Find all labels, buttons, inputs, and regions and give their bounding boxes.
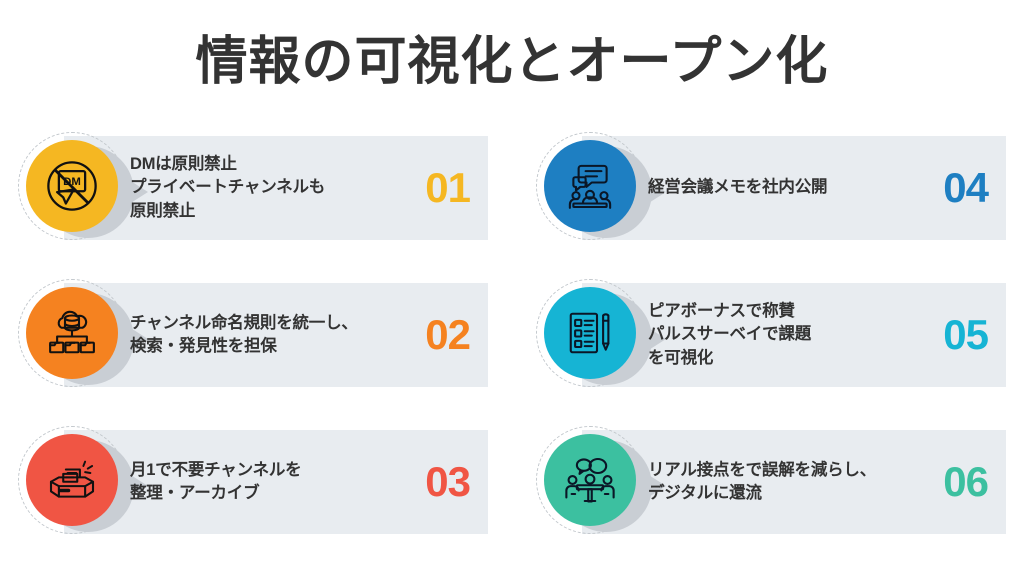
- item-text-line: パルスサーベイで課題: [648, 323, 898, 346]
- page-title: 情報の可視化とオープン化: [0, 34, 1024, 91]
- cloud-folder-hierarchy-icon: [44, 305, 100, 361]
- item-text-line: 検索・発見性を担保: [130, 335, 380, 358]
- item-text-line: 整理・アーカイブ: [130, 482, 380, 505]
- item-text: 経営会議メモを社内公開: [648, 136, 898, 240]
- item-text-line: プライベートチャンネルも: [130, 176, 380, 199]
- icon-circle: [544, 287, 636, 379]
- item-number: 01: [425, 136, 470, 240]
- icon-circle: [26, 287, 118, 379]
- items-column-right: 経営会議メモを社内公開 04: [536, 128, 1006, 548]
- item-number: 02: [425, 283, 470, 387]
- item-text-line: デジタルに還流: [648, 482, 898, 505]
- archive-box-icon: [44, 452, 100, 508]
- list-item[interactable]: 月1で不要チャンネルを 整理・アーカイブ 03: [18, 422, 488, 532]
- icon-circle: [544, 434, 636, 526]
- roundtable-people-icon: [562, 452, 618, 508]
- item-number: 05: [943, 283, 988, 387]
- item-text-line: を可視化: [648, 347, 898, 370]
- slide-root: 情報の可視化とオープン化 DM: [0, 0, 1024, 576]
- items-column-left: DM DMは原則禁止 プライベートチャンネルも 原則禁止 01: [18, 128, 488, 548]
- list-item[interactable]: DM DMは原則禁止 プライベートチャンネルも 原則禁止 01: [18, 128, 488, 238]
- list-item[interactable]: 経営会議メモを社内公開 04: [536, 128, 1006, 238]
- items-grid: DM DMは原則禁止 プライベートチャンネルも 原則禁止 01: [0, 128, 1024, 548]
- dm-prohibited-icon: DM: [44, 158, 100, 214]
- item-text-line: DMは原則禁止: [130, 153, 380, 176]
- item-text: ピアボーナスで称賛 パルスサーベイで課題 を可視化: [648, 283, 898, 387]
- item-text-line: リアル接点をで誤解を減らし、: [648, 459, 898, 482]
- item-text-line: チャンネル命名規則を統一し、: [130, 312, 380, 335]
- list-item[interactable]: チャンネル命名規則を統一し、 検索・発見性を担保 02: [18, 275, 488, 385]
- item-text: 月1で不要チャンネルを 整理・アーカイブ: [130, 430, 380, 534]
- item-text-line: 月1で不要チャンネルを: [130, 459, 380, 482]
- item-number: 04: [943, 136, 988, 240]
- icon-circle: [26, 434, 118, 526]
- survey-checklist-icon: [562, 305, 618, 361]
- meeting-discussion-icon: [562, 158, 618, 214]
- item-text: チャンネル命名規則を統一し、 検索・発見性を担保: [130, 283, 380, 387]
- icon-circle: DM: [26, 140, 118, 232]
- item-text: リアル接点をで誤解を減らし、 デジタルに還流: [648, 430, 898, 534]
- item-text: DMは原則禁止 プライベートチャンネルも 原則禁止: [130, 136, 380, 240]
- item-number: 06: [943, 430, 988, 534]
- item-number: 03: [425, 430, 470, 534]
- item-text-line: ピアボーナスで称賛: [648, 300, 898, 323]
- item-text-line: 原則禁止: [130, 200, 380, 223]
- item-text-line: 経営会議メモを社内公開: [648, 176, 898, 199]
- icon-circle: [544, 140, 636, 232]
- list-item[interactable]: リアル接点をで誤解を減らし、 デジタルに還流 06: [536, 422, 1006, 532]
- list-item[interactable]: ピアボーナスで称賛 パルスサーベイで課題 を可視化 05: [536, 275, 1006, 385]
